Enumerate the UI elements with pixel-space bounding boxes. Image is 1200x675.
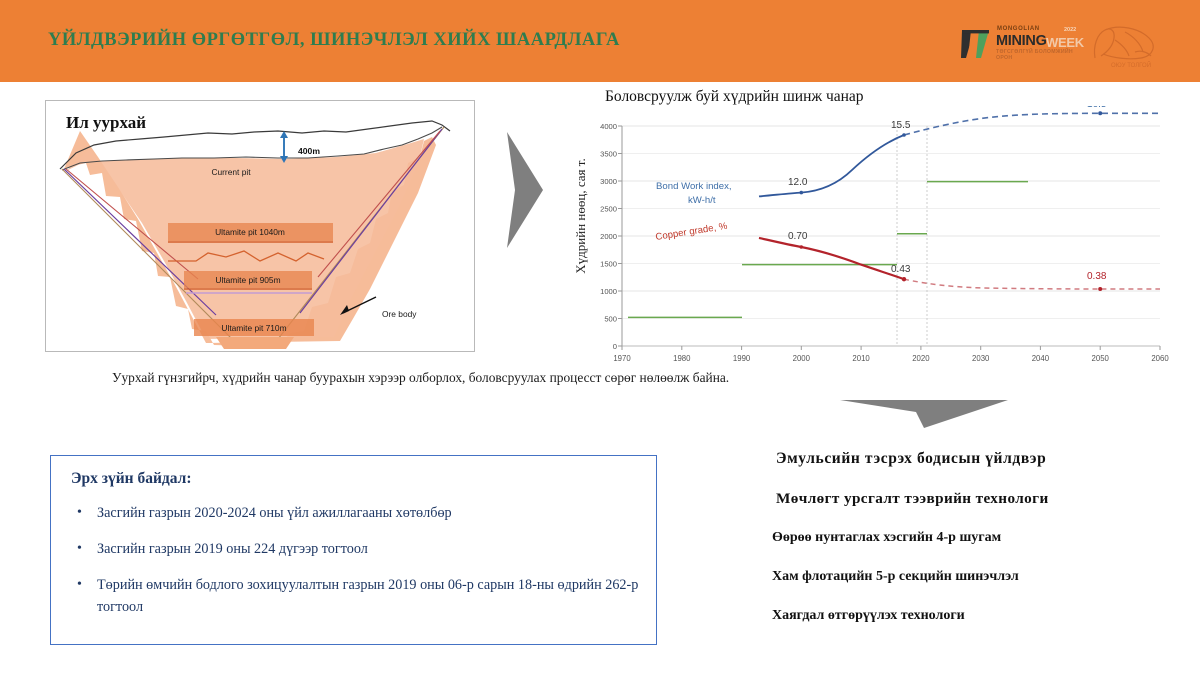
bond-work-index-line [759,135,904,196]
svg-text:2030: 2030 [972,354,990,363]
mongolian-mining-week-logo: MONGOLIAN MINING WEEK ТӨГСГӨЛГҮЙ БОЛОМЖИ… [960,26,1080,62]
chart-x-ticks: 1970 1980 1990 2000 2010 2020 2030 2040 … [613,346,1169,363]
svg-text:Ultamite pit 1040m: Ultamite pit 1040m [215,227,285,237]
svg-text:2010: 2010 [852,354,870,363]
legal-items-list: • Засгийн газрын 2020-2024 оны үйл ажилл… [69,502,641,632]
logo-line-mining: MINING [996,33,1047,49]
tech-list-item: Хам флотацийн 5-р секцийн шинэчлэл [772,569,1019,585]
logo-line-week: WEEK [1046,35,1084,50]
svg-text:Ultamite pit 905m: Ultamite pit 905m [215,275,280,285]
legal-item-text: Засгийн газрын 2019 оны 224 дүгээр тогто… [97,541,368,557]
svg-text:500: 500 [604,315,617,324]
bond-work-index-forecast-line [904,113,1160,135]
bond-work-index-label-line2: kW-h/t [688,195,716,206]
copper-grade-label: Copper grade, % [655,221,729,243]
open-pit-diagram-card: Ил уурхай 400m Current pit Ultamite pit … [45,100,475,352]
svg-text:2050: 2050 [1092,354,1110,363]
legal-list-item: • Төрийн өмчийн бодлого зохицуулалтын га… [69,574,641,618]
legal-status-box: Эрх зүйн байдал: • Засгийн газрын 2020-2… [50,455,657,645]
ore-body-label: Ore body [382,309,417,319]
arrow-down-icon [838,396,1010,430]
chart-gridlines [622,126,1160,346]
tech-list-item: Эмульсийн тэсрэх бодисын үйлдвэр [776,450,1046,468]
svg-text:0: 0 [613,342,617,351]
ultimate-pit-905-band: Ultamite pit 905m [184,271,312,293]
legal-list-item: • Засгийн газрын 2020-2024 оны үйл ажилл… [69,502,641,524]
svg-text:2500: 2500 [600,205,617,214]
svg-text:3500: 3500 [600,150,617,159]
header-bar: ҮЙЛДВЭРИЙН ӨРГӨТГӨЛ, ШИНЭЧЛЭЛ ХИЙХ ШААРД… [0,0,1200,82]
svg-text:2040: 2040 [1032,354,1050,363]
chart-y-ticks: 4000 3500 3000 2500 2000 1500 1000 500 0 [600,122,622,351]
tech-list-item: Мөчлөгт урсгалт тээврийн технологи [776,490,1049,508]
oyu-tolgoi-logo: ОЮУ ТОЛГОЙ [1085,22,1165,70]
copper-grade-line [759,238,904,279]
legal-item-text: Төрийн өмчийн бодлого зохицуулалтын газр… [97,577,638,615]
svg-text:1500: 1500 [600,260,617,269]
bond-work-index-label-line1: Bond Work index, [656,181,732,192]
arrow-right-icon [495,130,555,250]
svg-text:1970: 1970 [613,354,631,363]
ultimate-pit-1040-band: Ultamite pit 1040m [168,223,333,242]
legal-box-title: Эрх зүйн байдал: [71,470,192,488]
svg-text:4000: 4000 [600,122,617,131]
svg-text:ОЮУ ТОЛГОЙ: ОЮУ ТОЛГОЙ [1111,61,1151,69]
bullet-icon: • [77,538,82,560]
svg-text:1990: 1990 [733,354,751,363]
cu-label-2051: 0.38 [1087,271,1107,282]
copper-grade-forecast-line [904,279,1160,289]
chart-plot-svg: 4000 3500 3000 2500 2000 1500 1000 500 0… [560,106,1185,368]
seven-mark-icon [960,28,994,60]
legal-item-text: Засгийн газрын 2020-2024 оны үйл ажиллаг… [97,505,452,521]
logo-line-mongolian: MONGOLIAN [997,26,1040,32]
svg-text:2020: 2020 [912,354,930,363]
svg-text:Ultamite pit 710m: Ultamite pit 710m [221,323,286,333]
pit-cross-section-svg: 400m Current pit Ultamite pit 1040m Ulta… [46,101,476,353]
svg-text:2000: 2000 [793,354,811,363]
cu-label-2023: 0.43 [891,264,911,275]
depth-label: 400m [298,146,320,156]
bwi-label-2023: 15.5 [891,120,911,131]
cu-label-2000: 0.70 [788,231,808,242]
chart-title: Боловсруулж буй хүдрийн шинж чанар [605,88,864,106]
tech-list-item: Өөрөө нунтаглах хэсгийн 4-р шугам [772,530,1001,546]
svg-text:2060: 2060 [1151,354,1169,363]
tech-list-item: Хаягдал өтгөрүүлэх технологи [772,608,965,624]
chart-caption: Уурхай гүнзгийрч, хүдрийн чанар буурахын… [112,370,992,386]
svg-text:2000: 2000 [600,232,617,241]
legal-list-item: • Засгийн газрын 2019 оны 224 дүгээр тог… [69,538,641,560]
bullet-icon: • [77,502,82,524]
ore-quality-chart: Боловсруулж буй хүдрийн шинж чанар Хүдри… [560,88,1185,368]
bullet-icon: • [77,574,82,596]
page-title: ҮЙЛДВЭРИЙН ӨРГӨТГӨЛ, ШИНЭЧЛЭЛ ХИЙХ ШААРД… [48,30,620,51]
svg-text:3000: 3000 [600,177,617,186]
current-pit-label: Current pit [211,167,251,177]
bwi-label-2051: 16.5 [1087,106,1107,110]
svg-text:1000: 1000 [600,287,617,296]
ultimate-pit-710-band: Ultamite pit 710m [194,319,314,336]
bwi-label-2000: 12.0 [788,177,808,188]
logo-year: 2022 [1064,27,1076,33]
logo-line-tagline: ТӨГСГӨЛГҮЙ БОЛОМЖИЙН ОРОН [996,49,1080,61]
svg-text:1980: 1980 [673,354,691,363]
